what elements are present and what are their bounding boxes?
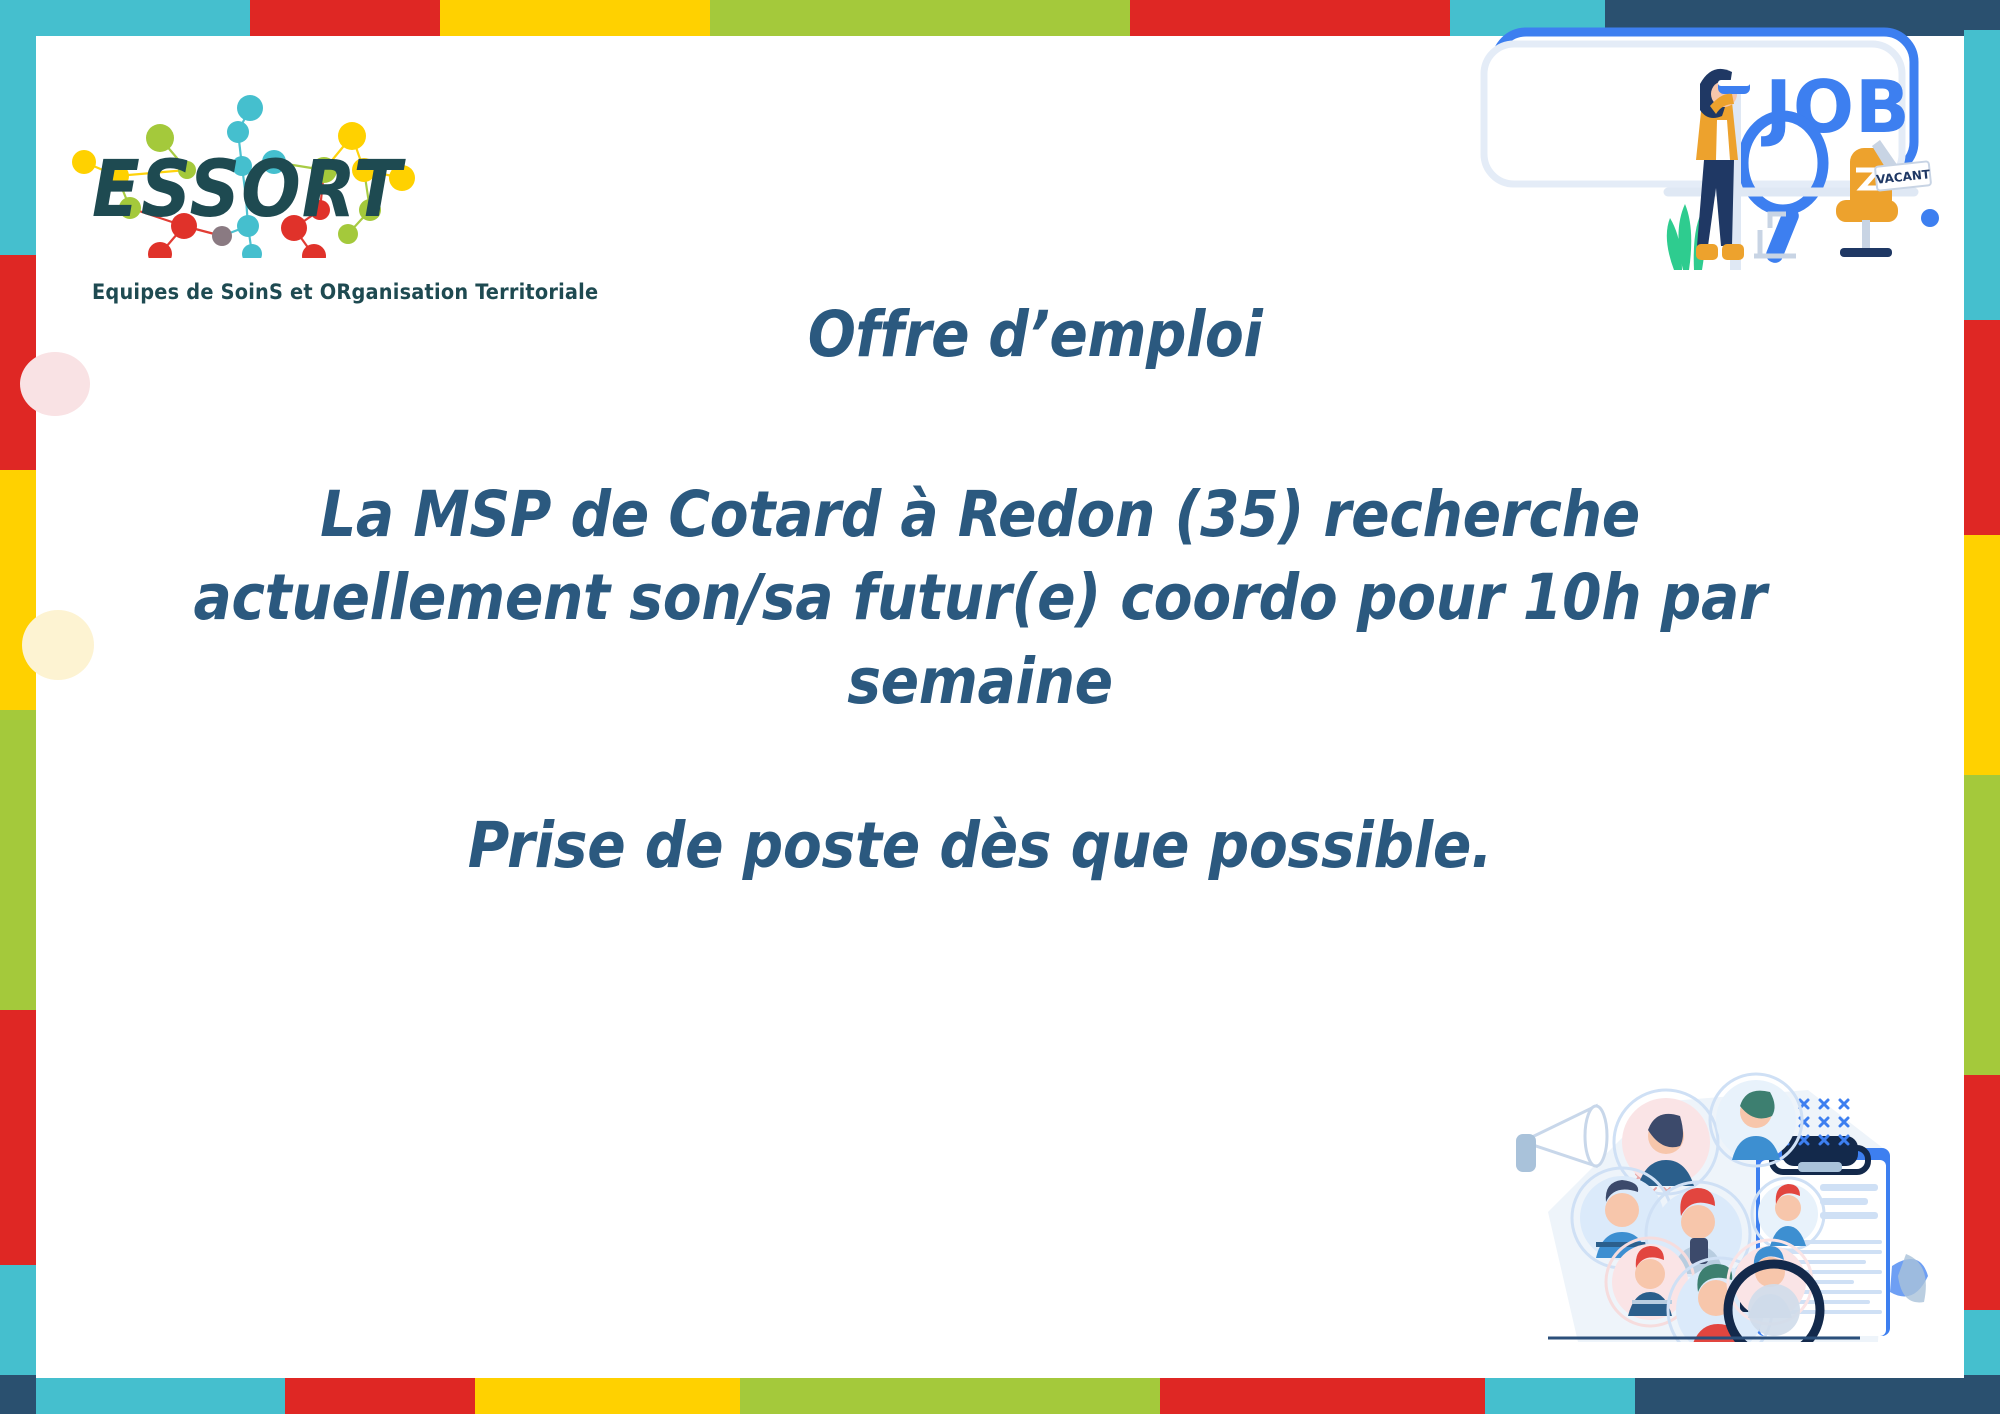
essort-logo-graphic: ESSORT <box>42 58 462 258</box>
border-bottom-green <box>740 1378 1160 1414</box>
svg-text:ESSORT: ESSORT <box>92 145 406 235</box>
border-top-red <box>250 0 440 36</box>
page-title: Offre d’emploi <box>60 300 1900 369</box>
border-right-red-2 <box>1964 1075 2000 1310</box>
border-left-teal-2 <box>0 1265 36 1375</box>
border-top-yellow <box>440 0 710 36</box>
border-right-navy-2 <box>1964 1375 2000 1414</box>
start-date-note: Prise de poste dès que possible. <box>60 811 1900 880</box>
border-left-navy <box>0 1375 36 1414</box>
border-left-teal <box>0 0 36 255</box>
border-right-navy <box>1964 0 2000 30</box>
border-left-green <box>0 710 36 1010</box>
border-bottom-teal <box>0 1378 285 1414</box>
border-right-teal <box>1964 30 2000 320</box>
border-right-yellow <box>1964 535 2000 775</box>
poster-text-block: Offre d’emploi La MSP de Cotard à Redon … <box>60 300 1900 880</box>
body-start-spacer <box>60 723 1900 811</box>
essort-logo: ESSORT Equipes de SoinS et ORganisation … <box>42 58 462 258</box>
job-offer-poster: ESSORT Equipes de SoinS et ORganisation … <box>0 0 2000 1414</box>
border-top-green <box>710 0 1130 36</box>
border-bottom-yellow <box>475 1378 740 1414</box>
border-left-yellow <box>0 470 36 710</box>
recruitment-illustration <box>1508 1042 1928 1342</box>
border-bottom-navy <box>1635 1378 2000 1414</box>
border-bottom-red-2 <box>1160 1378 1485 1414</box>
offer-description: La MSP de Cotard à Redon (35) recherche … <box>160 473 1800 722</box>
border-top-red-2 <box>1130 0 1450 36</box>
border-right-green <box>1964 775 2000 1075</box>
border-top-teal <box>0 0 250 36</box>
border-left-red-2 <box>0 1010 36 1265</box>
job-search-illustration: JOB <box>1478 20 1948 270</box>
border-right-teal-2 <box>1964 1310 2000 1375</box>
title-body-spacer <box>60 369 1900 473</box>
border-bottom-red <box>285 1378 475 1414</box>
svg-text:JOB: JOB <box>1760 65 1911 149</box>
border-left-red <box>0 255 36 470</box>
border-right-red <box>1964 320 2000 535</box>
border-bottom-teal-2 <box>1485 1378 1635 1414</box>
